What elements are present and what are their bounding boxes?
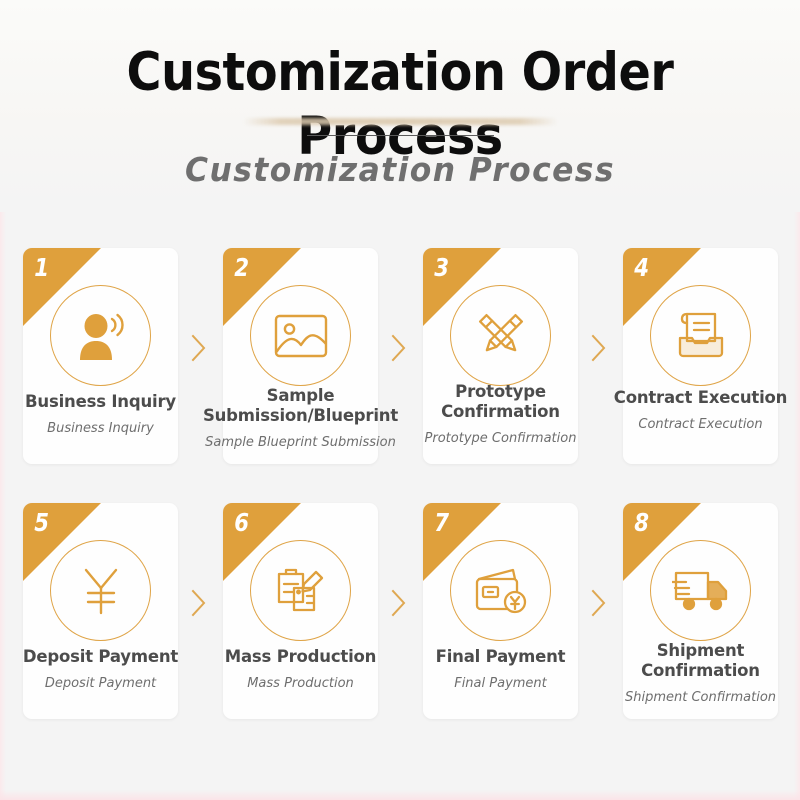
step-subtitle: Shipment Confirmation bbox=[601, 689, 800, 706]
step-labels: Contract Execution Contract Execution bbox=[601, 388, 800, 433]
step-title: Contract Execution bbox=[601, 388, 800, 408]
step-labels: Prototype Confirmation Prototype Confirm… bbox=[401, 382, 600, 447]
step-card-4[interactable]: 4 Contract Execution bbox=[623, 248, 778, 464]
step-number: 4 bbox=[634, 253, 649, 283]
chevron-right-icon bbox=[390, 333, 408, 363]
step-number: 7 bbox=[434, 508, 449, 538]
step-title: Deposit Payment bbox=[1, 647, 200, 667]
step-number: 3 bbox=[434, 253, 449, 283]
step-labels: Business Inquiry Business Inquiry bbox=[1, 392, 200, 437]
person-speaking-icon bbox=[74, 310, 128, 362]
chevron-right-icon bbox=[590, 333, 608, 363]
chevron-right-icon bbox=[390, 588, 408, 618]
yuan-currency-icon bbox=[79, 566, 123, 616]
process-steps-row-1: 1 Business I bbox=[0, 248, 800, 464]
wallet-yuan-coin-icon bbox=[473, 567, 529, 615]
step-card-7[interactable]: 7 bbox=[423, 503, 578, 719]
page-header: Customization Order Process Customizatio… bbox=[0, 0, 800, 212]
step-title: Prototype Confirmation bbox=[401, 382, 600, 422]
step-icon-ring bbox=[250, 540, 351, 641]
step-subtitle: Prototype Confirmation bbox=[401, 430, 600, 447]
step-labels: Shipment Confirmation Shipment Confirmat… bbox=[601, 641, 800, 706]
image-picture-icon bbox=[273, 312, 329, 360]
step-icon-ring bbox=[50, 285, 151, 386]
step-card-5[interactable]: 5 Deposit Payment bbox=[23, 503, 178, 719]
step-title: Shipment Confirmation bbox=[601, 641, 800, 681]
step-icon-ring bbox=[650, 540, 751, 641]
step-title: Final Payment bbox=[401, 647, 600, 667]
step-subtitle: Mass Production bbox=[201, 675, 400, 692]
step-number: 1 bbox=[34, 253, 49, 283]
step-card-8[interactable]: 8 bbox=[623, 503, 778, 719]
title-divider-band bbox=[243, 118, 558, 125]
step-icon-ring bbox=[50, 540, 151, 641]
step-card-2[interactable]: 2 Sample Submission/Blueprint Sample Blu… bbox=[223, 248, 378, 464]
step-subtitle: Final Payment bbox=[401, 675, 600, 692]
clipboard-pencil-icon bbox=[274, 566, 328, 616]
page-edge-tint-bottom bbox=[0, 790, 800, 800]
step-title: Sample Submission/Blueprint bbox=[201, 386, 400, 426]
process-steps-row-2: 5 Deposit Payment bbox=[0, 503, 800, 719]
page-subtitle: Customization Process bbox=[20, 148, 780, 192]
step-card-3[interactable]: 3 bbox=[423, 248, 578, 464]
document-tray-icon bbox=[673, 311, 729, 361]
step-labels: Mass Production Mass Production bbox=[201, 647, 400, 692]
chevron-right-icon bbox=[590, 588, 608, 618]
crossed-pencils-icon bbox=[473, 308, 529, 364]
title-divider-line bbox=[307, 135, 494, 136]
step-title: Business Inquiry bbox=[1, 392, 200, 412]
step-subtitle: Sample Blueprint Submission bbox=[201, 434, 400, 451]
step-number: 6 bbox=[234, 508, 249, 538]
chevron-right-icon bbox=[190, 588, 208, 618]
process-steps-grid: 1 Business I bbox=[0, 248, 800, 728]
step-subtitle: Business Inquiry bbox=[1, 420, 200, 437]
step-labels: Deposit Payment Deposit Payment bbox=[1, 647, 200, 692]
step-labels: Sample Submission/Blueprint Sample Bluep… bbox=[201, 386, 400, 451]
step-title: Mass Production bbox=[201, 647, 400, 667]
step-labels: Final Payment Final Payment bbox=[401, 647, 600, 692]
step-icon-ring bbox=[450, 540, 551, 641]
step-number: 8 bbox=[634, 508, 649, 538]
step-subtitle: Deposit Payment bbox=[1, 675, 200, 692]
step-icon-ring bbox=[650, 285, 751, 386]
step-number: 2 bbox=[234, 253, 249, 283]
step-icon-ring bbox=[250, 285, 351, 386]
step-icon-ring bbox=[450, 285, 551, 386]
step-card-6[interactable]: 6 bbox=[223, 503, 378, 719]
step-card-1[interactable]: 1 Business I bbox=[23, 248, 178, 464]
chevron-right-icon bbox=[190, 333, 208, 363]
step-subtitle: Contract Execution bbox=[601, 416, 800, 433]
delivery-truck-icon bbox=[672, 569, 730, 613]
step-number: 5 bbox=[34, 508, 49, 538]
